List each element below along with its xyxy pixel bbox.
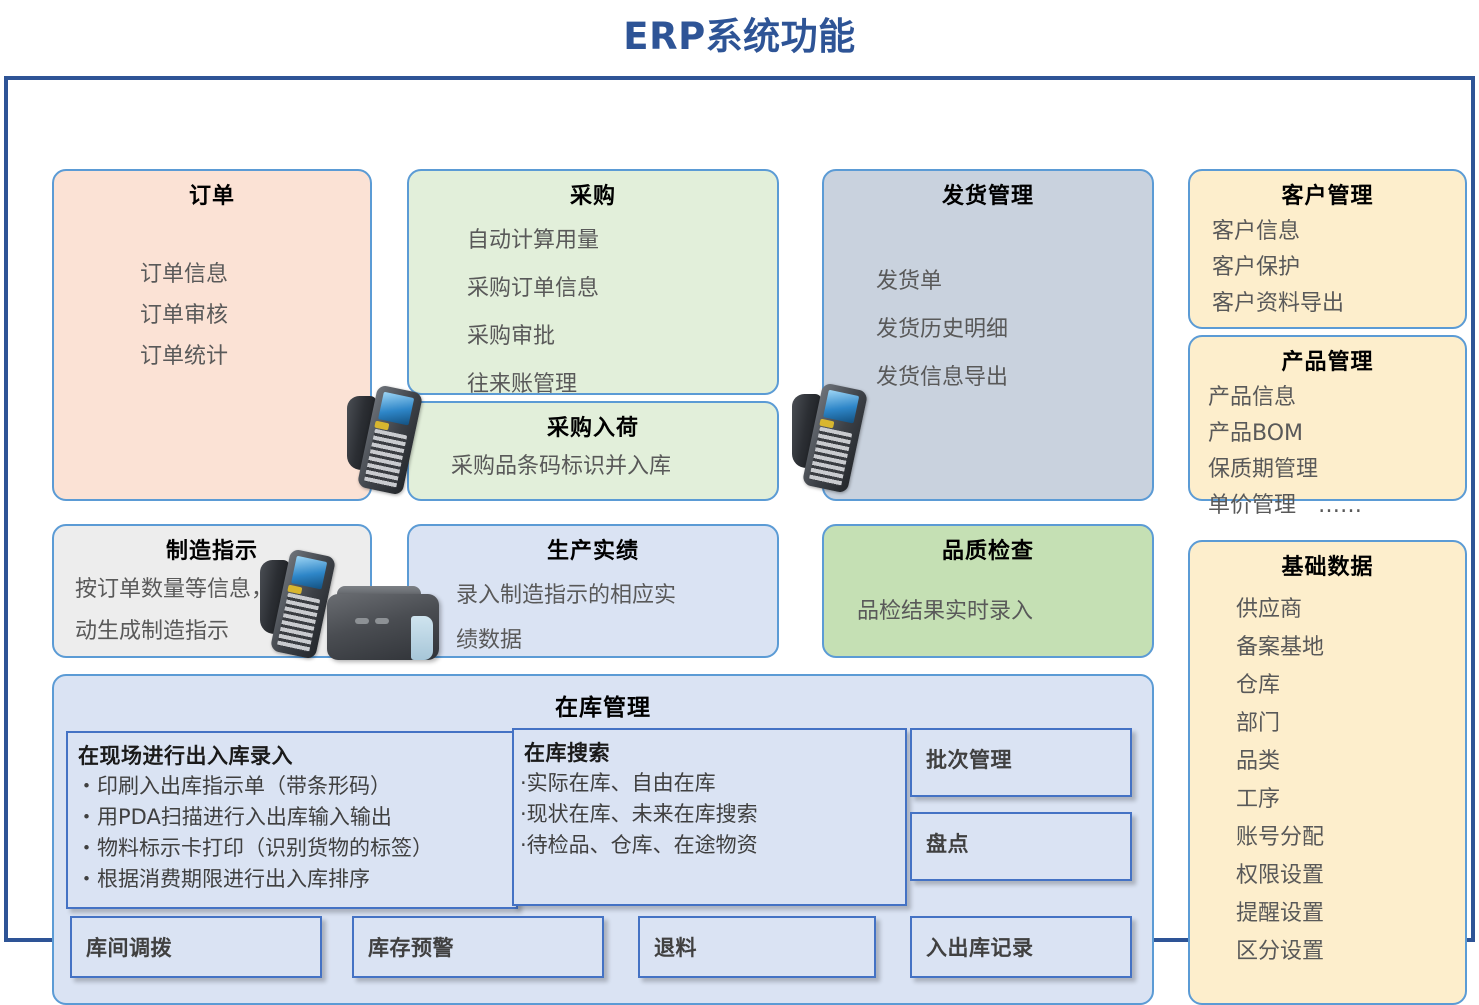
card-customer-title: 客户管理 [1190,171,1465,210]
list-item: 账号分配 [1236,819,1465,857]
panel-onsite-entry-lines: ・印刷入出库指示单（带条形码） ・用PDA扫描进行入出库输入输出 ・物料标示卡打… [68,771,516,895]
diagram-frame: 订单 订单信息 订单审核 订单统计 采购 自动计算用量 采购订单信息 采购审批 … [4,76,1475,942]
list-item: 发货单 [876,258,1152,306]
pda-keypad [277,593,321,653]
card-receiving-title: 采购入荷 [409,403,777,442]
card-purchase-title: 采购 [409,171,777,210]
list-item: 采购审批 [467,313,777,361]
list-item: 客户信息 [1212,214,1465,250]
card-basic-data-title: 基础数据 [1190,542,1465,581]
pda-screen [378,392,414,426]
list-item: 采购品条码标识并入库 [451,446,777,488]
panel-material-return[interactable]: 退料 [638,916,876,978]
card-production-result-desc: 录入制造指示的相应实 绩数据 [409,573,777,663]
printer-paper-slot [411,616,433,660]
pda-barcode-scanner-icon [790,386,864,494]
pda-keypad [809,427,853,487]
card-receiving-list: 采购品条码标识并入库 [409,446,777,488]
list-item: 区分设置 [1236,933,1465,971]
list-item: 权限设置 [1236,857,1465,895]
card-quality-inspection[interactable]: 品质检查 品检结果实时录入 [822,524,1154,658]
panel-stock-warning[interactable]: 库存预警 [352,916,604,978]
panel-batch-management-label: 批次管理 [912,730,1130,774]
list-item: 发货信息导出 [876,354,1152,402]
card-shipping-management[interactable]: 发货管理 发货单 发货历史明细 发货信息导出 [822,169,1154,501]
bullet-line: ·实际在库、自由在库 [520,768,905,799]
pda-barcode-scanner-icon [258,552,332,660]
pda-barcode-scanner-icon [345,388,419,496]
printer-button [375,618,389,624]
panel-stock-warning-label: 库存预警 [354,918,602,962]
list-item: 部门 [1236,705,1465,743]
pda-screen [823,390,859,424]
list-item: 产品BOM [1208,416,1465,452]
list-item: 订单统计 [140,336,370,377]
bullet-line: ・印刷入出库指示单（带条形码） [76,771,516,802]
list-item: 客户保护 [1212,250,1465,286]
panel-material-return-label: 退料 [640,918,874,962]
bullet-line: ・用PDA扫描进行入出库输入输出 [76,802,516,833]
card-product-list: 产品信息 产品BOM 保质期管理 单价管理 …… [1190,380,1465,524]
panel-warehouse-transfer-label: 库间调拨 [72,918,320,962]
panel-inout-record-label: 入出库记录 [912,918,1130,962]
card-basic-data-list: 供应商 备案基地 仓库 部门 品类 工序 账号分配 权限设置 提醒设置 区分设置 [1190,591,1465,971]
card-purchase-receiving[interactable]: 采购入荷 采购品条码标识并入库 [407,401,779,501]
desc-line: 绩数据 [456,618,777,663]
panel-stocktake-label: 盘点 [912,814,1130,858]
card-order-title: 订单 [54,171,370,210]
list-item: 单价管理 …… [1208,488,1465,524]
bullet-line: ・物料标示卡打印（识别货物的标签） [76,833,516,864]
card-production-result[interactable]: 生产实绩 录入制造指示的相应实 绩数据 [407,524,779,658]
list-item: 订单信息 [140,254,370,295]
panel-inventory-search-lines: ·实际在库、自由在库 ·现状在库、未来在库搜索 ·待检品、仓库、在途物资 [514,768,905,861]
card-purchase[interactable]: 采购 自动计算用量 采购订单信息 采购审批 往来账管理 [407,169,779,395]
list-item: 备案基地 [1236,629,1465,667]
page-title: ERP系统功能 [0,6,1479,60]
panel-stocktake[interactable]: 盘点 [910,812,1132,881]
list-item: 订单审核 [140,295,370,336]
list-item: 产品信息 [1208,380,1465,416]
list-item: 客户资料导出 [1212,286,1465,322]
card-inventory-management-title: 在库管理 [54,676,1152,722]
list-item: 提醒设置 [1236,895,1465,933]
card-purchase-list: 自动计算用量 采购订单信息 采购审批 往来账管理 [409,217,777,409]
card-customer-list: 客户信息 客户保护 客户资料导出 [1190,214,1465,322]
list-item: 自动计算用量 [467,217,777,265]
desc-line: 品检结果实时录入 [857,591,1152,633]
list-item: 工序 [1236,781,1465,819]
pda-screen [291,556,327,590]
panel-onsite-entry[interactable]: 在现场进行出入库录入 ・印刷入出库指示单（带条形码） ・用PDA扫描进行入出库输… [66,731,518,909]
card-quality-inspection-title: 品质检查 [824,526,1152,565]
card-product-title: 产品管理 [1190,337,1465,376]
panel-warehouse-transfer[interactable]: 库间调拨 [70,916,322,978]
panel-inventory-search-heading: 在库搜索 [514,730,905,768]
card-inventory-management[interactable]: 在库管理 在现场进行出入库录入 ・印刷入出库指示单（带条形码） ・用PDA扫描进… [52,674,1154,1005]
panel-batch-management[interactable]: 批次管理 [910,728,1132,797]
list-item: 仓库 [1236,667,1465,705]
list-item: 供应商 [1236,591,1465,629]
desc-line: 录入制造指示的相应实 [456,573,777,618]
bullet-line: ·现状在库、未来在库搜索 [520,799,905,830]
bullet-line: ·待检品、仓库、在途物资 [520,830,905,861]
card-shipping-title: 发货管理 [824,171,1152,210]
list-item: 品类 [1236,743,1465,781]
card-basic-data[interactable]: 基础数据 供应商 备案基地 仓库 部门 品类 工序 账号分配 权限设置 提醒设置… [1188,540,1467,1005]
list-item: 保质期管理 [1208,452,1465,488]
card-order-list: 订单信息 订单审核 订单统计 [54,254,370,377]
list-item: 采购订单信息 [467,265,777,313]
printer-button [355,618,369,624]
list-item: 发货历史明细 [876,306,1152,354]
pda-keypad [364,429,408,489]
card-production-result-title: 生产实绩 [409,526,777,565]
panel-inout-record[interactable]: 入出库记录 [910,916,1132,978]
card-customer-management[interactable]: 客户管理 客户信息 客户保护 客户资料导出 [1188,169,1467,329]
card-quality-inspection-desc: 品检结果实时录入 [824,591,1152,633]
panel-inventory-search[interactable]: 在库搜索 ·实际在库、自由在库 ·现状在库、未来在库搜索 ·待检品、仓库、在途物… [512,728,907,906]
card-shipping-list: 发货单 发货历史明细 发货信息导出 [824,258,1152,402]
card-product-management[interactable]: 产品管理 产品信息 产品BOM 保质期管理 单价管理 …… [1188,335,1467,501]
portable-label-printer-icon [327,586,439,662]
card-order[interactable]: 订单 订单信息 订单审核 订单统计 [52,169,372,501]
printer-body [327,594,439,660]
bullet-line: ・根据消费期限进行出入库排序 [76,864,516,895]
panel-onsite-entry-heading: 在现场进行出入库录入 [68,733,516,771]
